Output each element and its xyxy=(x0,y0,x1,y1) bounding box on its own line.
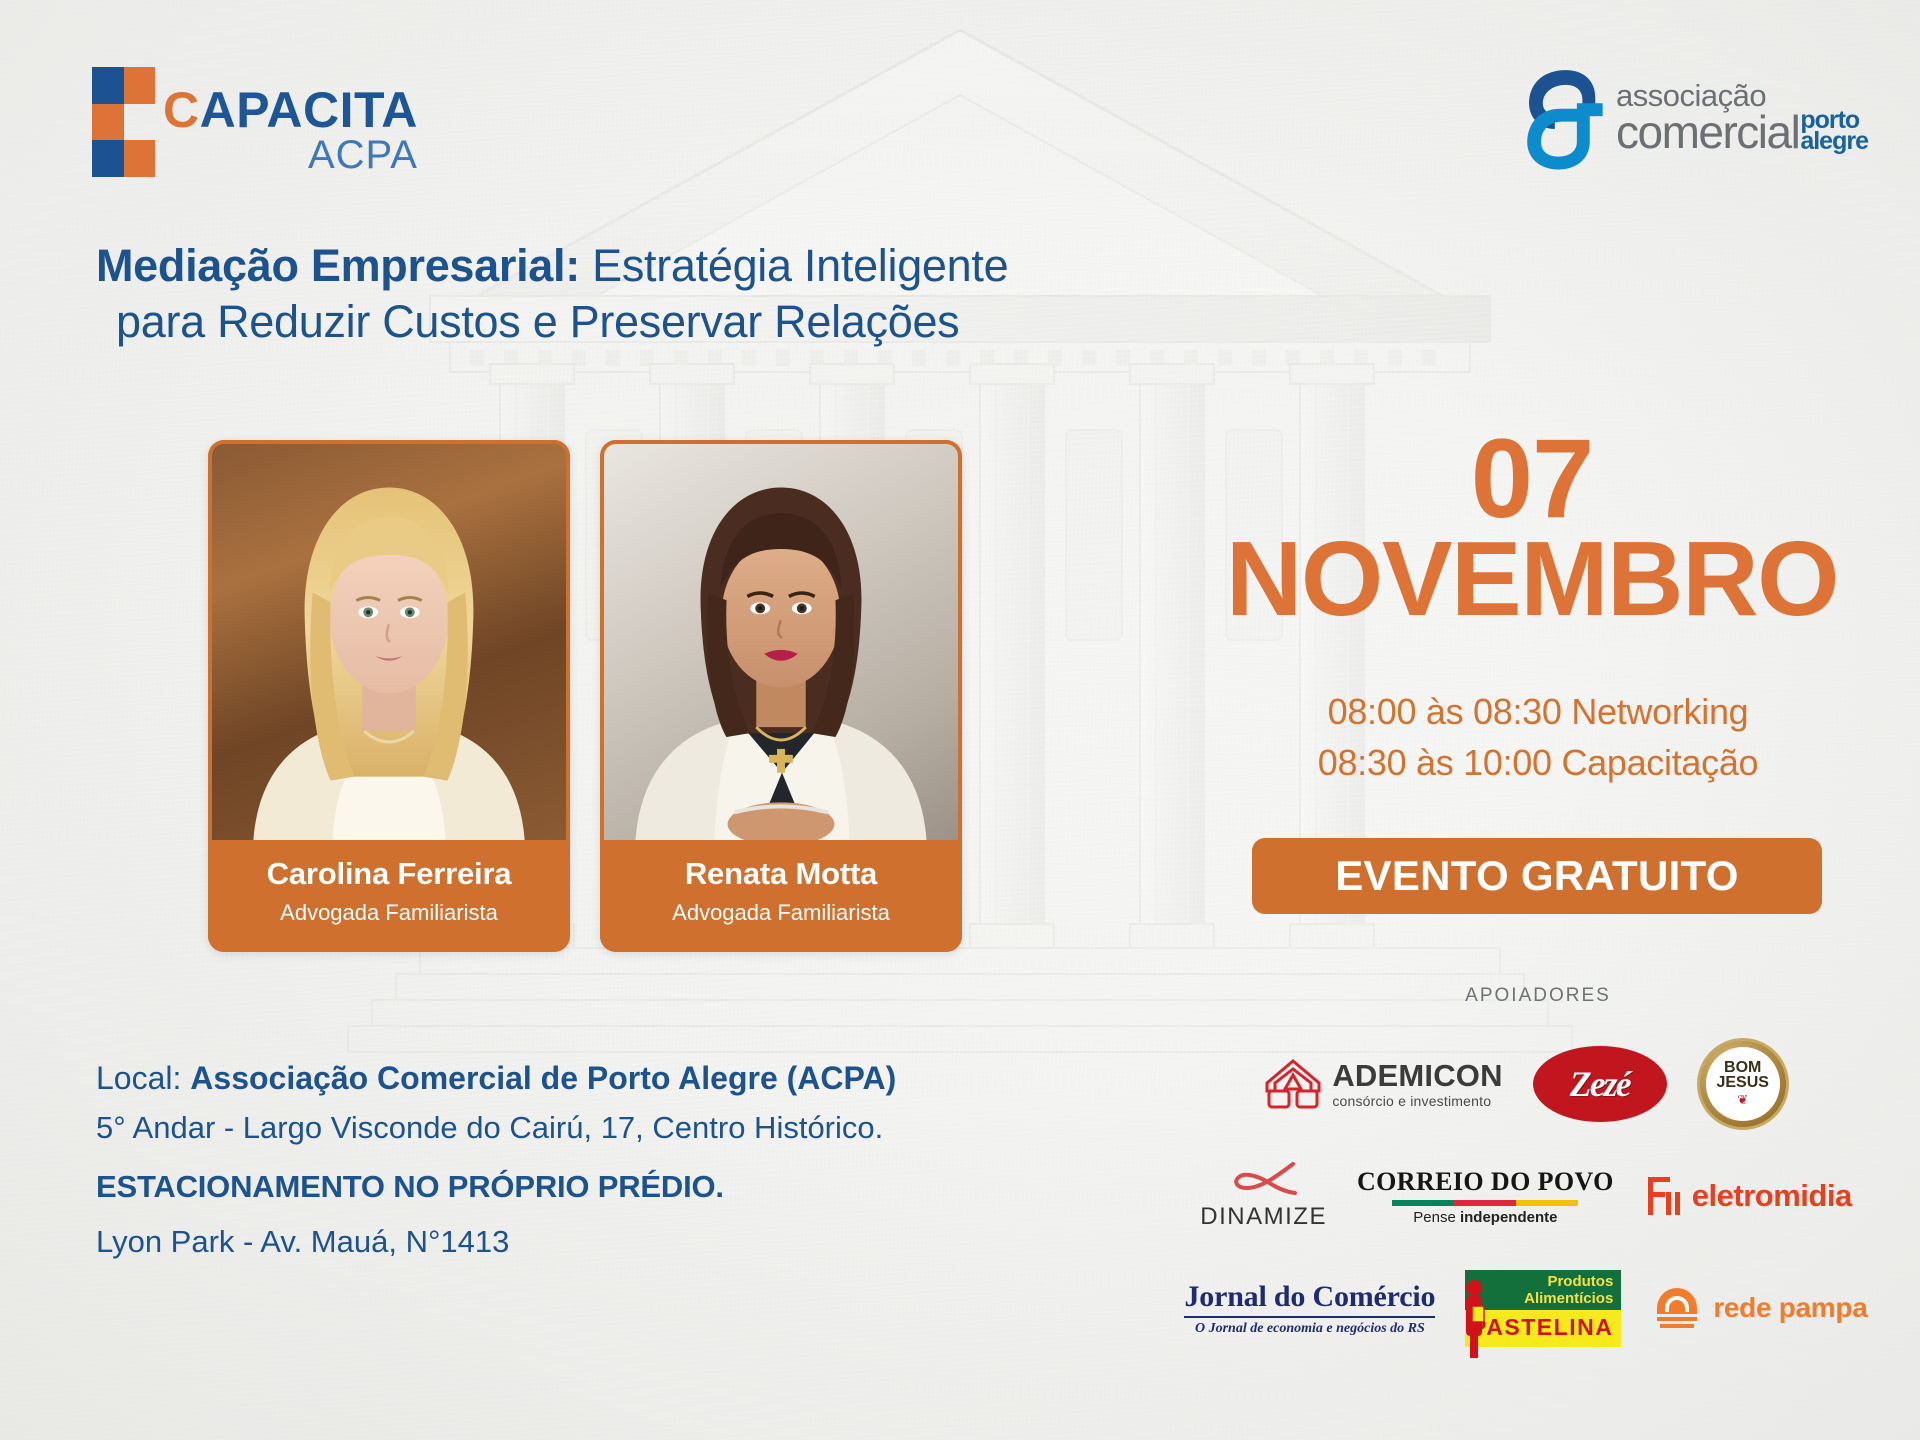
sponsor-rede-pampa: rede pampa xyxy=(1651,1282,1867,1334)
pastelina-name: PASTELINA xyxy=(1471,1314,1613,1340)
speaker-role: Advogada Familiarista xyxy=(218,900,560,926)
location-venue: Associação Comercial de Porto Alegre (AC… xyxy=(190,1060,896,1096)
headline-line2: para Reduzir Custos e Preservar Relações xyxy=(96,294,1096,350)
coffee-berries-icon: ❦ xyxy=(1737,1092,1748,1108)
capacita-acpa-sub: ACPA xyxy=(163,135,418,175)
sponsor-correio-do-povo: CORREIO DO POVO Pense independente xyxy=(1357,1167,1614,1226)
bom-jesus-line1: BOM xyxy=(1724,1060,1761,1075)
sponsor-jornal-do-comercio: Jornal do Comércio O Jornal de economia … xyxy=(1184,1280,1435,1337)
sponsor-eletromidia: eletromidia xyxy=(1644,1173,1852,1219)
sponsor-ademicon: ADEMICON consórcio e investimento xyxy=(1263,1057,1502,1111)
event-date: 07 NOVEMBRO xyxy=(1212,430,1852,630)
headline-strong: Mediação Empresarial: xyxy=(96,240,580,291)
zeze-logo: Zezé xyxy=(1533,1046,1667,1122)
parking-notice: ESTACIONAMENTO NO PRÓPRIO PRÉDIO. xyxy=(96,1156,1056,1218)
sponsor-pastelina: Produtos Alimentícios PASTELINA xyxy=(1465,1270,1621,1347)
pastelina-top-label: Produtos Alimentícios xyxy=(1465,1270,1621,1310)
eletromidia-name: eletromidia xyxy=(1692,1178,1852,1214)
event-month: NOVEMBRO xyxy=(1212,529,1852,631)
rede-pampa-name: rede pampa xyxy=(1713,1292,1867,1324)
capacita-wordmark-rest: APACITA xyxy=(200,82,418,138)
correio-tagline-1: Pense xyxy=(1413,1209,1460,1226)
speaker-name: Renata Motta xyxy=(610,856,952,892)
speaker-card-renata-motta: Renata Motta Advogada Familiarista xyxy=(600,440,962,952)
correio-tagline: Pense independente xyxy=(1357,1209,1614,1226)
speaker-role: Advogada Familiarista xyxy=(610,900,952,926)
correio-tricolor-bar xyxy=(1392,1200,1578,1206)
event-poster: CAPACITA ACPA associação comercial porto… xyxy=(0,0,1920,1440)
sponsor-bom-jesus: BOM JESUS ❦ xyxy=(1697,1038,1789,1130)
dinamize-name: DINAMIZE xyxy=(1200,1203,1327,1231)
event-schedule: 08:00 às 08:30 Networking 08:30 às 10:00… xyxy=(1218,686,1858,788)
acpa-line-comercial: comercial xyxy=(1616,113,1799,153)
speaker-card-carolina-ferreira: Carolina Ferreira Advogada Familiarista xyxy=(208,440,570,952)
free-event-badge[interactable]: EVENTO GRATUITO xyxy=(1252,838,1822,914)
headline-rest: Estratégia Inteligente xyxy=(580,240,1008,291)
rede-pampa-arc-icon xyxy=(1651,1282,1703,1334)
ademicon-house-icon xyxy=(1263,1057,1323,1111)
sponsors-row-1: ADEMICON consórcio e investimento Zezé B… xyxy=(1176,1028,1876,1140)
event-day: 07 xyxy=(1212,430,1852,529)
acpa-line-alegre: alegre xyxy=(1800,131,1868,152)
sponsors-grid: ADEMICON consórcio e investimento Zezé B… xyxy=(1176,1028,1876,1364)
correio-name: CORREIO DO POVO xyxy=(1357,1167,1614,1197)
speaker-name: Carolina Ferreira xyxy=(218,856,560,892)
dinamize-swoosh-icon xyxy=(1225,1162,1303,1196)
location-label: Local: xyxy=(96,1060,181,1096)
correio-tagline-2: independente xyxy=(1460,1209,1558,1226)
free-event-label: EVENTO GRATUITO xyxy=(1335,852,1739,900)
capacita-wordmark: CAPACITA xyxy=(163,87,418,133)
sponsors-row-2: DINAMIZE CORREIO DO POVO Pense independe… xyxy=(1176,1140,1876,1252)
event-headline: Mediação Empresarial: Estratégia Intelig… xyxy=(96,238,1096,350)
sponsors-heading: APOIADORES xyxy=(1218,985,1858,1007)
schedule-line-1: 08:00 às 08:30 Networking xyxy=(1218,686,1858,737)
pastelina-chef-icon xyxy=(1461,1276,1487,1362)
acpa-monogram-icon xyxy=(1518,62,1610,174)
bom-jesus-logo: BOM JESUS ❦ xyxy=(1697,1038,1789,1130)
bom-jesus-line2: JESUS xyxy=(1716,1075,1768,1090)
parking-address: Lyon Park - Av. Mauá, N°1413 xyxy=(96,1218,1056,1266)
jornal-tagline: O Jornal de economia e negócios do RS xyxy=(1184,1321,1435,1337)
speaker-photo-carolina-ferreira xyxy=(208,440,570,840)
ademicon-name: ADEMICON xyxy=(1332,1060,1502,1091)
location-venue-line: Local: Associação Comercial de Porto Ale… xyxy=(96,1055,1056,1101)
sponsor-dinamize: DINAMIZE xyxy=(1200,1162,1327,1231)
capacita-logo: CAPACITA ACPA xyxy=(92,67,418,177)
schedule-line-2: 08:30 às 10:00 Capacitação xyxy=(1218,737,1858,788)
sponsor-zeze: Zezé xyxy=(1533,1046,1667,1122)
speakers-row: Carolina Ferreira Advogada Familiarista xyxy=(208,440,962,952)
zeze-name: Zezé xyxy=(1570,1063,1630,1105)
acpa-logo: associação comercial porto alegre xyxy=(1518,62,1868,174)
speaker-photo-renata-motta xyxy=(600,440,962,840)
capacita-checker-icon xyxy=(92,67,155,177)
sponsors-row-3: Jornal do Comércio O Jornal de economia … xyxy=(1176,1252,1876,1364)
ademicon-tagline: consórcio e investimento xyxy=(1332,1094,1502,1108)
location-block: Local: Associação Comercial de Porto Ale… xyxy=(96,1055,1056,1266)
location-address: 5° Andar - Largo Visconde do Cairú, 17, … xyxy=(96,1101,1056,1155)
jornal-name: Jornal do Comércio xyxy=(1184,1280,1435,1318)
eletromidia-mark-icon xyxy=(1644,1173,1684,1219)
